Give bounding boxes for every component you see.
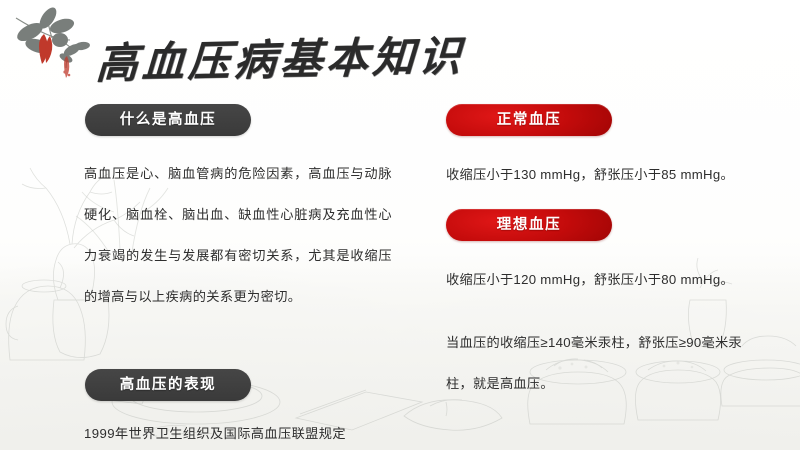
section-badge-ideal-blood-pressure[interactable]: 理想血压	[446, 209, 612, 241]
spacer	[446, 300, 766, 322]
spacer	[446, 241, 766, 259]
right-content-column: 正常血压 收缩压小于130 mmHg，舒张压小于85 mmHg。 理想血压 收缩…	[446, 104, 766, 404]
section-badge-what-is-hypertension[interactable]: 什么是高血压	[85, 104, 251, 136]
slide-canvas: 高血压病基本知识 什么是高血压 高血压是心、脑血管病的危险因素，高血压与动脉硬化…	[0, 0, 800, 450]
page-title: 高血压病基本知识	[94, 26, 466, 96]
paragraph-hypertension-threshold: 当血压的收缩压≥140毫米汞柱，舒张压≥90毫米汞柱，就是高血压。	[446, 322, 746, 404]
spacer	[84, 317, 392, 369]
paragraph-who-1999-definition: 1999年世界卫生组织及国际高血压联盟规定	[84, 413, 392, 450]
spacer	[84, 136, 392, 153]
paragraph-what-is-hypertension: 高血压是心、脑血管病的危险因素，高血压与动脉硬化、脑血栓、脑出血、缺血性心脏病及…	[84, 153, 392, 317]
paragraph-normal-blood-pressure: 收缩压小于130 mmHg，舒张压小于85 mmHg。	[446, 154, 766, 195]
section-badge-symptoms[interactable]: 高血压的表现	[85, 369, 251, 401]
ink-plant-sprig-icon	[8, 2, 92, 80]
header-rule	[86, 30, 102, 32]
spacer	[446, 195, 766, 209]
left-content-column: 什么是高血压 高血压是心、脑血管病的危险因素，高血压与动脉硬化、脑血栓、脑出血、…	[84, 104, 392, 450]
section-badge-normal-blood-pressure[interactable]: 正常血压	[446, 104, 612, 136]
paragraph-ideal-blood-pressure: 收缩压小于120 mmHg，舒张压小于80 mmHg。	[446, 259, 766, 300]
spacer	[84, 401, 392, 413]
slide-header: 高血压病基本知识	[0, 0, 800, 92]
spacer	[446, 136, 766, 154]
